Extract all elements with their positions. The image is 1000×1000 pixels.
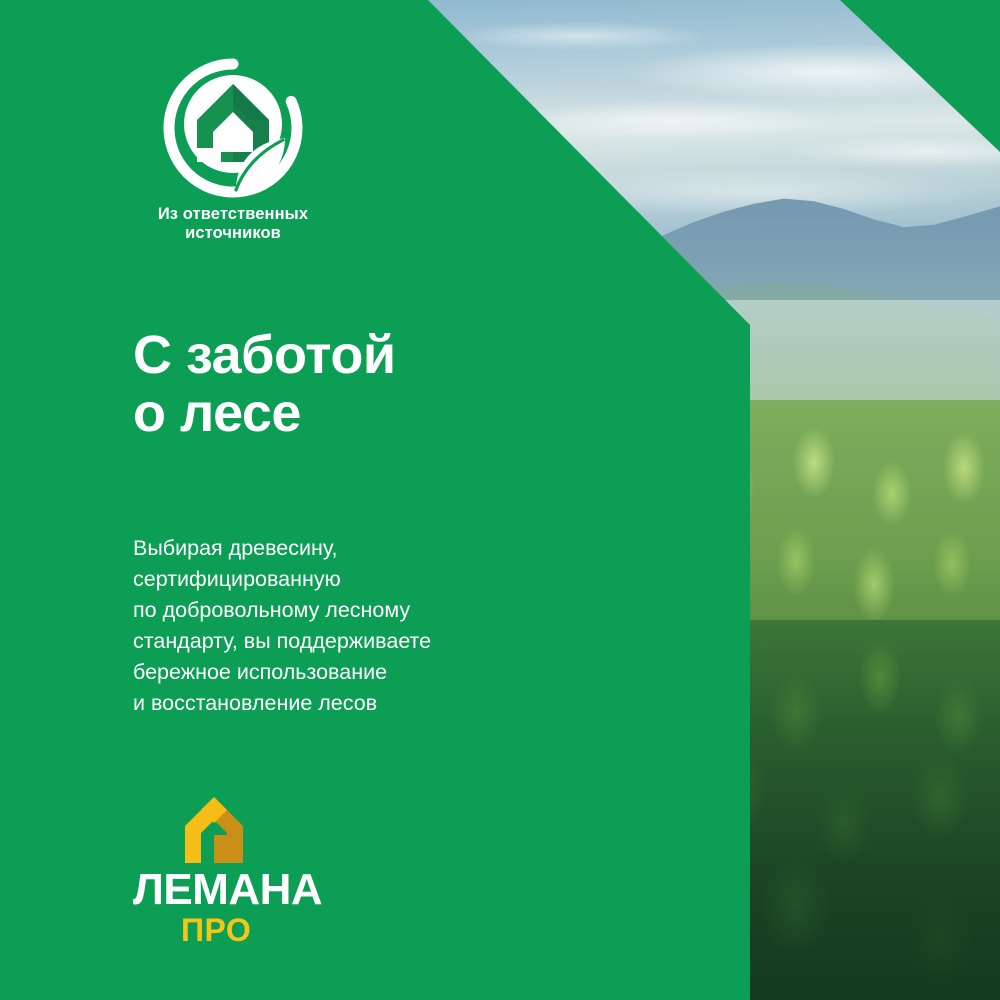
- lemana-pro-logo: ЛЕМАНА ПРО: [133, 795, 313, 946]
- lemana-wordmark: ЛЕМАНА: [133, 869, 313, 911]
- responsible-sources-badge: Из ответственных источников: [133, 58, 333, 244]
- lemana-house-icon: [181, 795, 247, 865]
- page-title: С заботой о лесе: [133, 327, 396, 443]
- responsible-sources-caption: Из ответственных источников: [133, 205, 333, 244]
- lemana-pro-suffix: ПРО: [181, 914, 313, 946]
- responsible-sources-circle-house-leaf-icon: [163, 58, 303, 198]
- body-copy: Выбирая древесину, сертифицированную по …: [133, 533, 431, 719]
- promo-poster: Из ответственных источников С заботой о …: [0, 0, 1000, 1000]
